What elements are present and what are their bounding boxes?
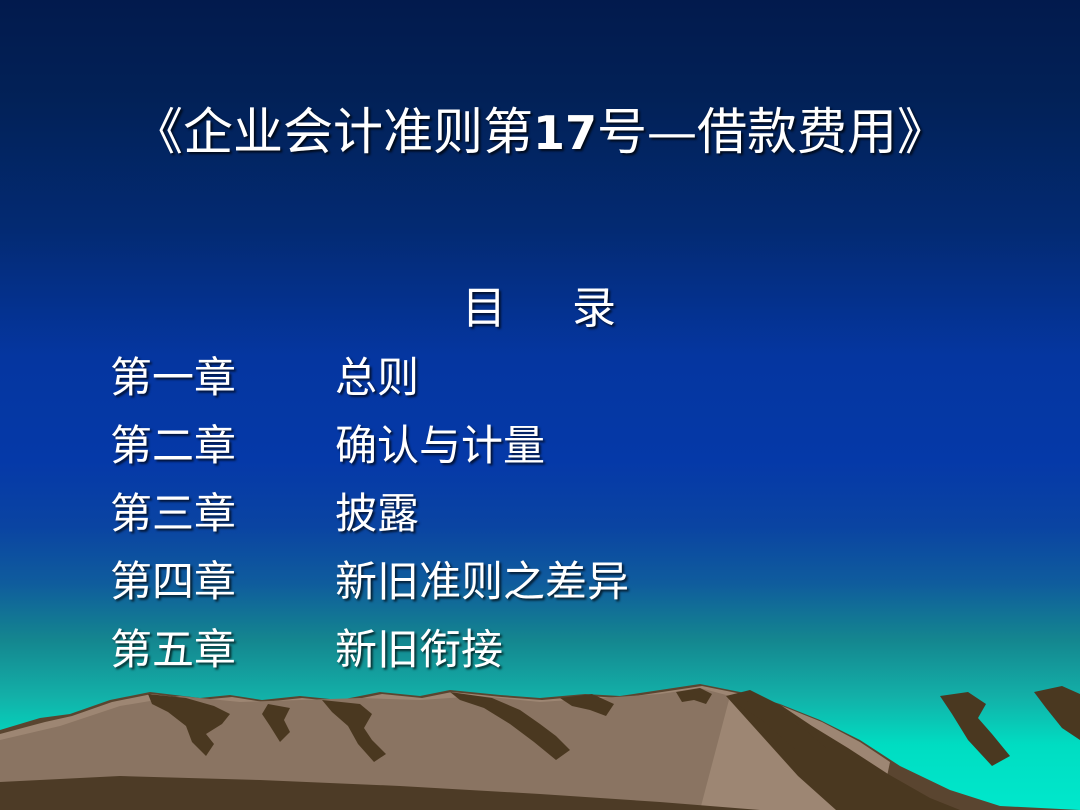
mountain-shadow-ridge-9 <box>1034 686 1080 740</box>
mountain-light-face <box>0 686 890 810</box>
mountain-mid-face <box>0 688 730 810</box>
mountain-shadow-ridge-6 <box>726 690 960 810</box>
toc-chapter-label: 第一章 <box>110 344 335 412</box>
toc-chapter-label: 第五章 <box>110 616 335 684</box>
mountain-foreground-band <box>0 776 760 810</box>
mountain-shadow-ridge-10 <box>560 694 614 716</box>
toc-item-chapter-2[interactable]: 第二章 确认与计量 <box>110 412 970 480</box>
toc-list: 第一章 总则 第二章 确认与计量 第三章 披露 第四章 新旧准则之差异 第五章 … <box>110 344 970 684</box>
toc-item-chapter-4[interactable]: 第四章 新旧准则之差异 <box>110 548 970 616</box>
mountain-shadow-ridge-2 <box>262 704 290 742</box>
presentation-slide: 《企业会计准则第17号—借款费用》 目 录 第一章 总则 第二章 确认与计量 第… <box>0 0 1080 810</box>
toc-chapter-title: 新旧衔接 <box>335 616 970 684</box>
toc-chapter-title: 确认与计量 <box>335 412 970 480</box>
toc-chapter-title: 新旧准则之差异 <box>335 548 970 616</box>
slide-title-suffix: 号—借款费用》 <box>597 103 947 161</box>
slide-title: 《企业会计准则第17号—借款费用》 <box>0 105 1080 160</box>
toc-chapter-label: 第四章 <box>110 548 335 616</box>
toc-heading: 目 录 <box>0 272 1080 336</box>
mountain-shadow-ridge-4 <box>450 692 570 760</box>
mountain-range-icon <box>0 670 1080 810</box>
slide-title-prefix: 《企业会计准则第 <box>133 103 533 161</box>
standard-number: 17 <box>533 106 597 160</box>
toc-item-chapter-1[interactable]: 第一章 总则 <box>110 344 970 412</box>
toc-chapter-title: 披露 <box>335 480 970 548</box>
toc-chapter-label: 第三章 <box>110 480 335 548</box>
toc-chapter-label: 第二章 <box>110 412 335 480</box>
toc-item-chapter-5[interactable]: 第五章 新旧衔接 <box>110 616 970 684</box>
mountain-shadow-ridge-1 <box>148 694 230 756</box>
mountain-shadow-ridge-8 <box>940 692 1010 766</box>
mountain-shadow-ridge-7 <box>736 698 852 782</box>
mountain-shadow-ridge-3 <box>322 700 386 762</box>
toc-item-chapter-3[interactable]: 第三章 披露 <box>110 480 970 548</box>
mountain-base-layer <box>0 684 1080 810</box>
toc-chapter-title: 总则 <box>335 344 970 412</box>
mountain-shadow-ridge-5 <box>676 688 712 704</box>
